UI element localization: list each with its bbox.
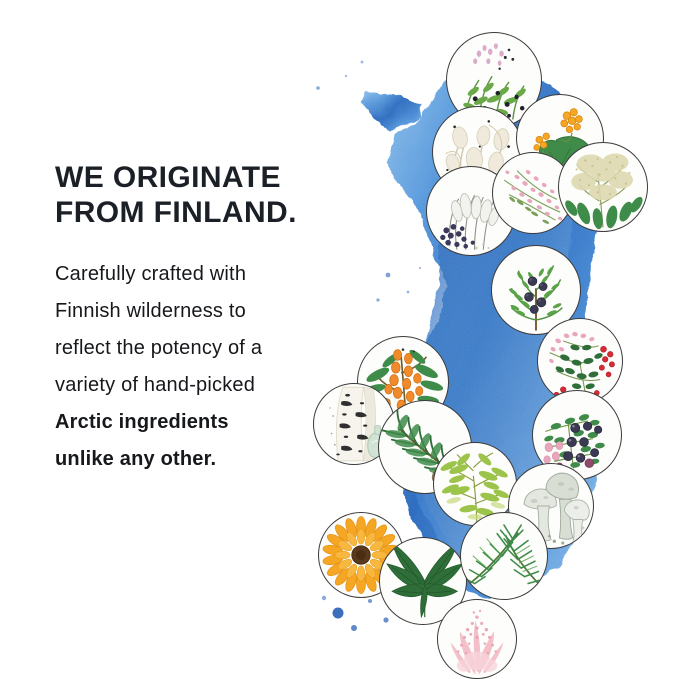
watercolor-map-icon xyxy=(300,0,679,679)
finland-map-illustration xyxy=(300,0,679,679)
poster-canvas: WE ORIGINATE FROM FINLAND. Carefully cra… xyxy=(0,0,679,679)
